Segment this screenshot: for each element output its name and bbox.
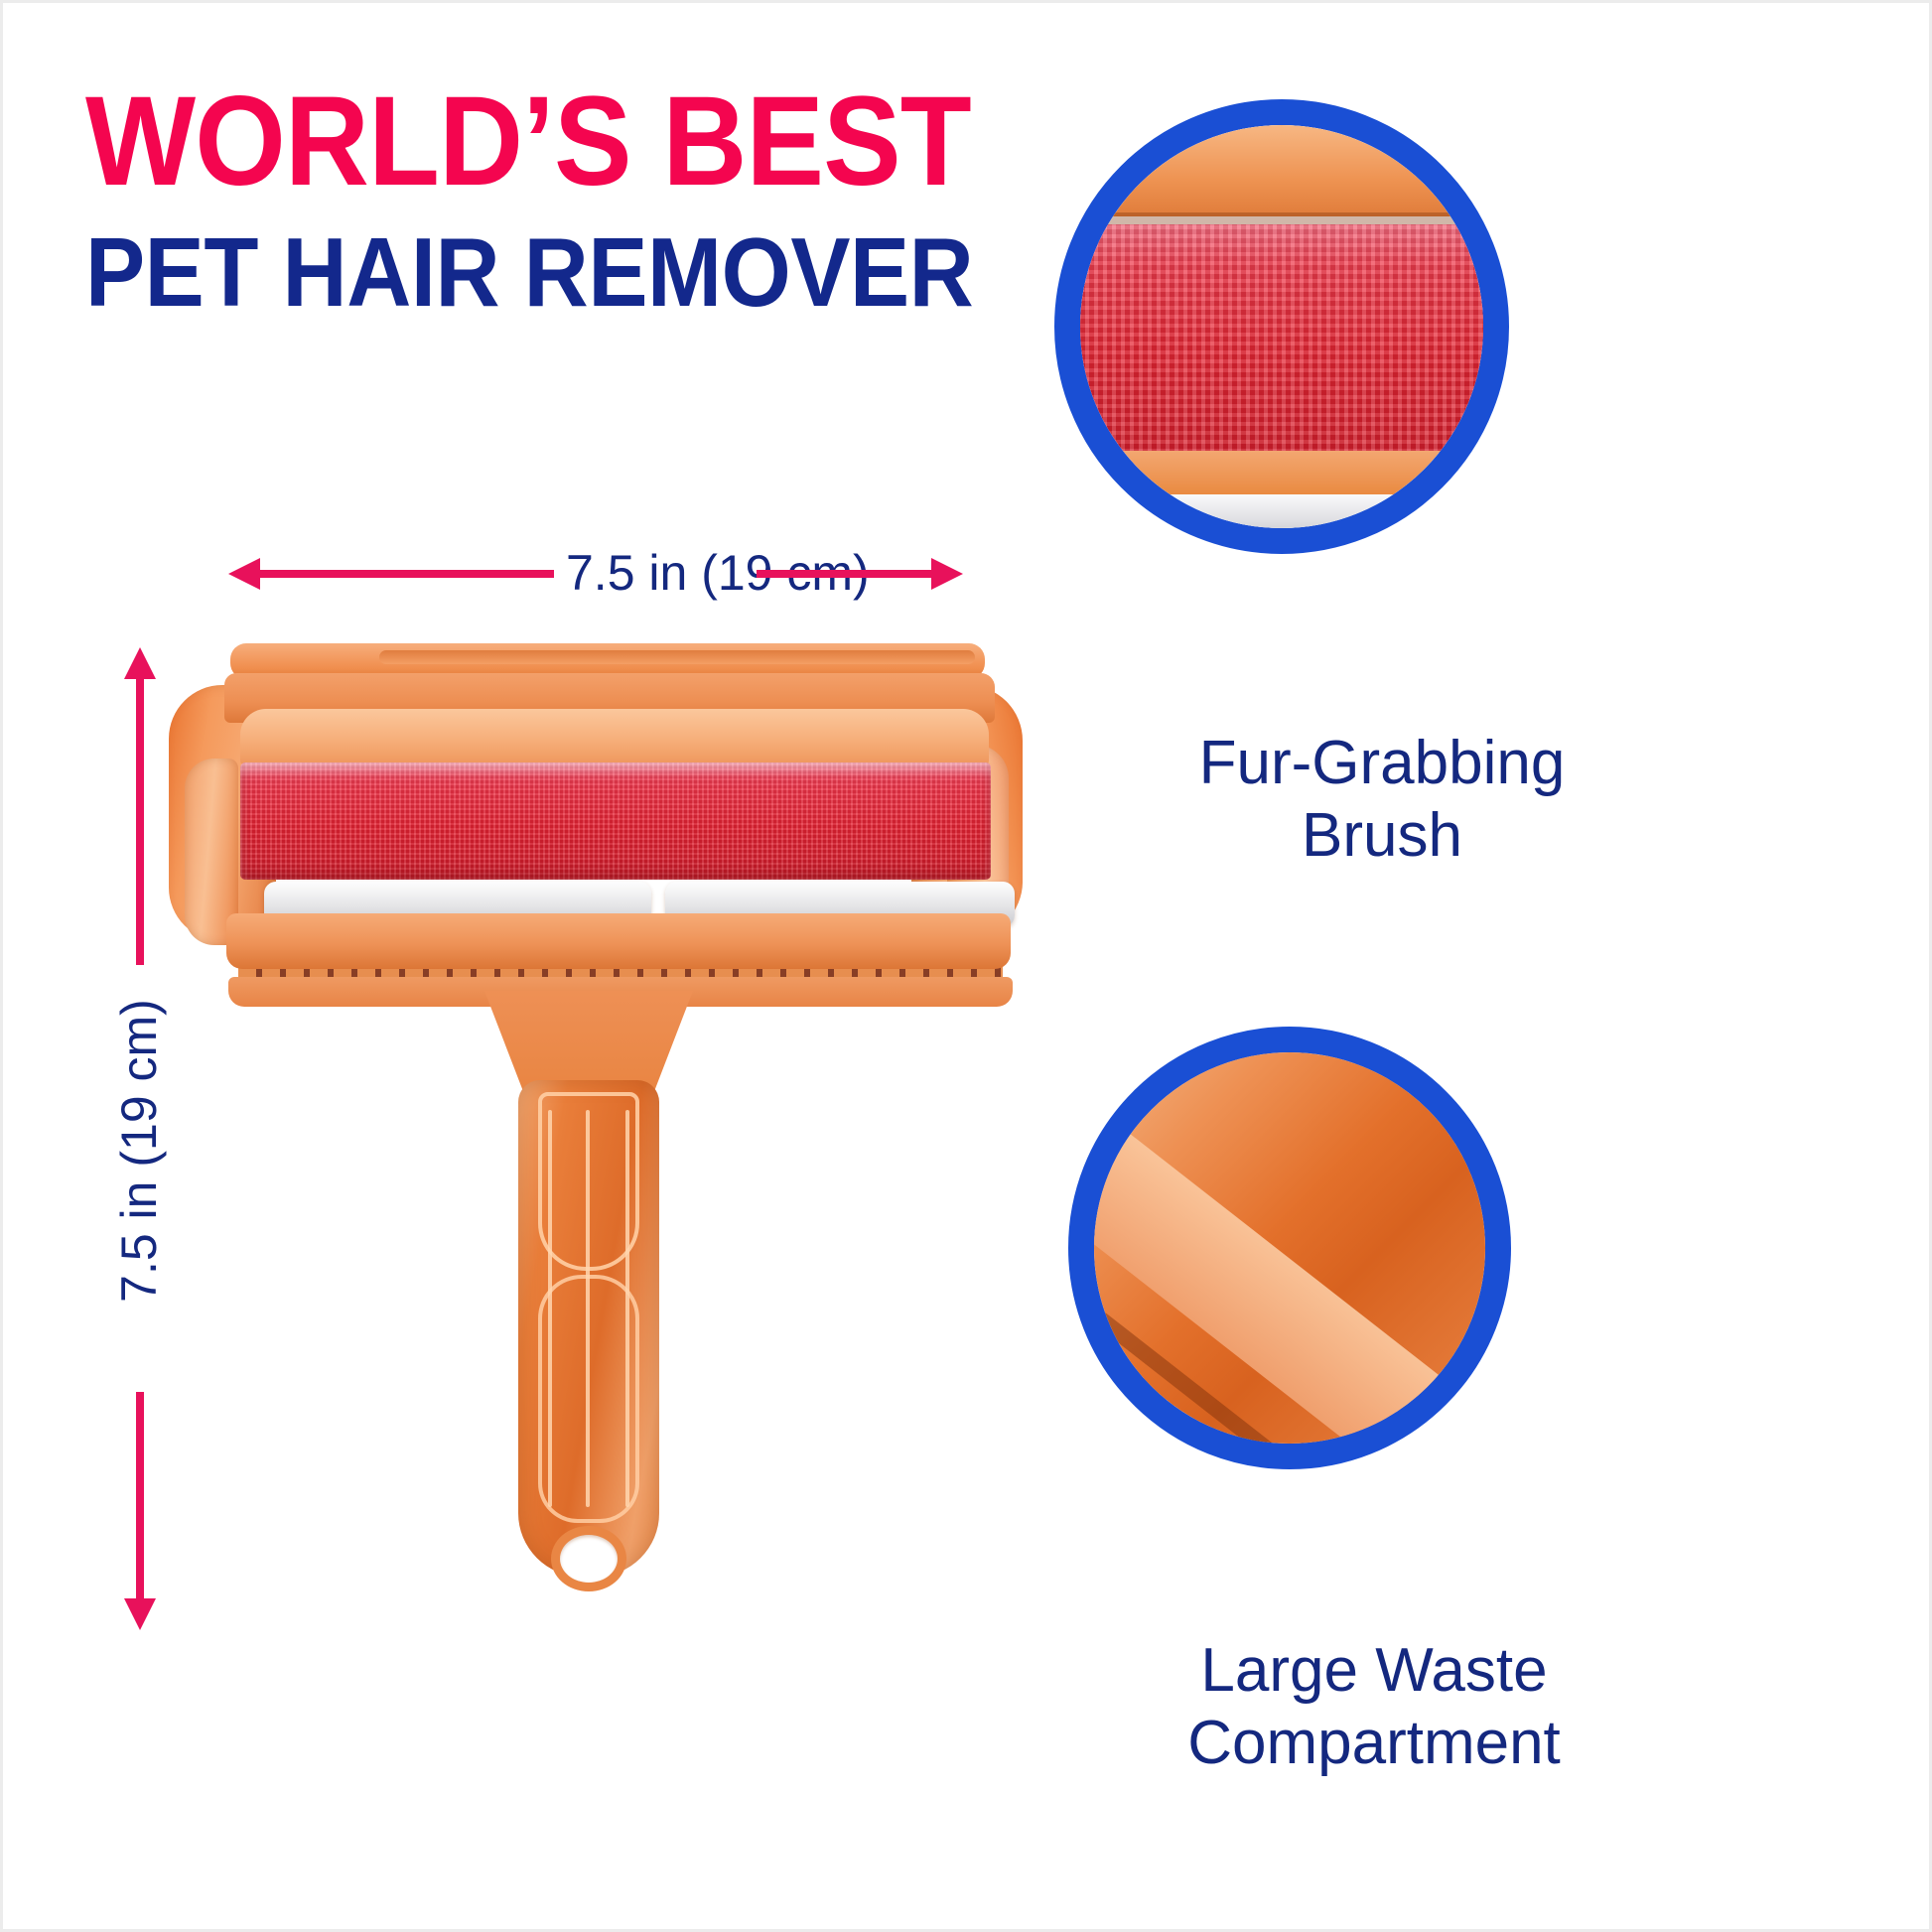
callout-fur-grabbing-brush — [1054, 99, 1509, 554]
roller-guard — [240, 709, 989, 766]
waste-compartment-closeup-image — [1094, 1052, 1485, 1444]
brush-closeup-image — [1080, 125, 1483, 528]
dimension-line-bottom — [136, 1392, 144, 1600]
product-image — [169, 643, 1023, 1577]
brush-closeup-bottom-housing — [1054, 451, 1509, 496]
callout-caption-brush: Fur-Grabbing Brush — [1104, 727, 1660, 872]
callout-large-waste-compartment — [1068, 1027, 1511, 1469]
callout-caption-waste: Large Waste Compartment — [1096, 1634, 1652, 1779]
fur-grabbing-roller — [240, 762, 991, 880]
arrow-up-icon — [124, 647, 156, 679]
handle-rib-2 — [586, 1110, 590, 1507]
brush-closeup-top-housing — [1054, 125, 1509, 216]
brush-closeup-red-bristles — [1054, 224, 1509, 453]
waste-closeup-light-band — [1068, 1027, 1511, 1469]
dimension-line-left — [258, 570, 554, 578]
arrow-left-icon — [228, 558, 260, 590]
dimension-line-right — [757, 570, 933, 578]
headline-block: WORLD’S BEST PET HAIR REMOVER — [85, 77, 1088, 323]
handle-hang-hole — [560, 1535, 618, 1583]
headline-line-2: PET HAIR REMOVER — [85, 221, 1008, 324]
callout-caption-brush-line-1: Fur-Grabbing — [1104, 727, 1660, 799]
roller-lid-groove — [379, 650, 975, 664]
callout-circle-brush — [1054, 99, 1509, 554]
callout-caption-waste-line-2: Compartment — [1096, 1707, 1652, 1779]
width-dimension: 7.5 in (19 cm) — [228, 544, 963, 604]
height-dimension: 7.5 in (19 cm) — [105, 647, 175, 1630]
callout-circle-waste — [1068, 1027, 1511, 1469]
handle-rib-1 — [548, 1110, 552, 1507]
brush-closeup-white-strip — [1054, 494, 1509, 540]
handle-rib-3 — [625, 1110, 629, 1507]
arrow-right-icon — [931, 558, 963, 590]
headline-line-1: WORLD’S BEST — [85, 77, 1008, 207]
product-infographic: WORLD’S BEST PET HAIR REMOVER 7.5 in (19… — [0, 0, 1932, 1932]
roller-head — [169, 643, 1023, 991]
dimension-line-top — [136, 677, 144, 965]
callout-caption-brush-line-2: Brush — [1104, 799, 1660, 872]
callout-caption-waste-line-1: Large Waste — [1096, 1634, 1652, 1707]
roller-bottom-bar — [226, 913, 1011, 969]
height-dimension-label: 7.5 in (19 cm) — [110, 952, 168, 1349]
arrow-down-icon — [124, 1598, 156, 1630]
